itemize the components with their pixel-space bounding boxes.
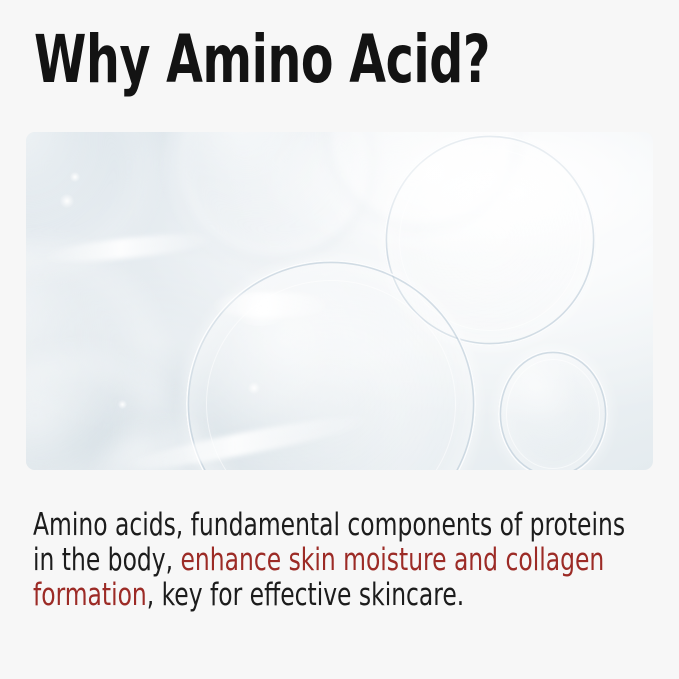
hero-bubbles-image — [26, 132, 653, 470]
droplet-a — [70, 172, 80, 182]
droplet-b — [60, 194, 74, 208]
hero-image-canvas — [26, 132, 653, 470]
body-text-part-two: , key for effective skincare. — [147, 577, 464, 613]
bubble-upper-right-highlight — [414, 160, 454, 186]
droplet-d — [248, 382, 260, 394]
page-title: Why Amino Acid? — [34, 20, 522, 100]
bubble-center-streak — [212, 292, 332, 318]
bubble-lower-right-small — [498, 350, 608, 470]
droplet-c — [118, 400, 127, 409]
product-info-card: Why Amino Acid? — [0, 0, 679, 679]
body-description: Amino acids, fundamental components of p… — [33, 508, 649, 613]
